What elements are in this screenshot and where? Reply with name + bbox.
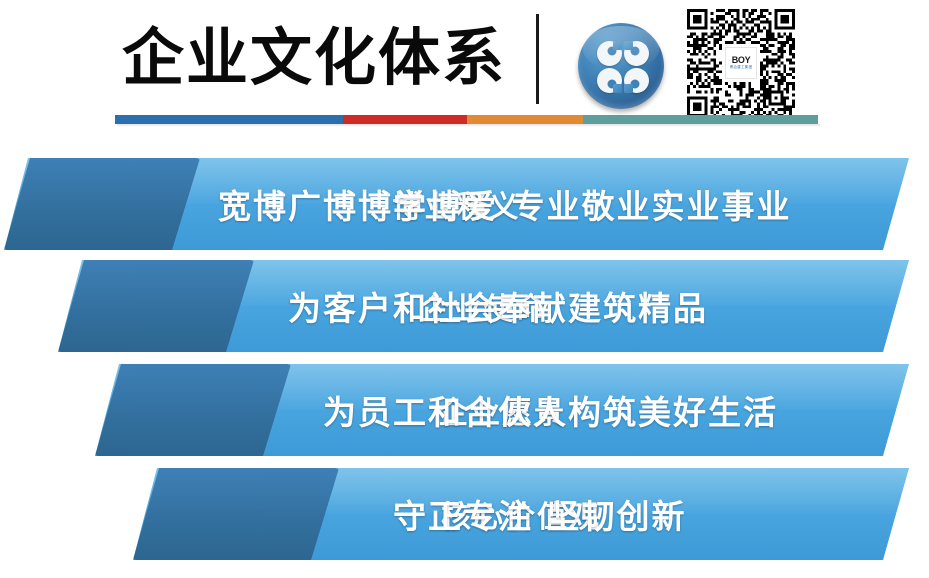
color-rule-segment-teal [583, 115, 818, 124]
logo-dot-4 [624, 68, 649, 93]
page-title: 企业文化体系 [122, 20, 506, 96]
banner-text: 为客户和社会奉献建筑精品 [288, 260, 708, 352]
company-circular-logo-icon [574, 19, 668, 113]
banner-text: 宽博广博博学博爱 专业敬业实业事业 [218, 158, 792, 250]
logo-dot-3 [597, 68, 622, 93]
qr-brand-sublabel: 博冶建工集团 [730, 66, 753, 69]
color-rule [115, 115, 818, 124]
banner-row[interactable]: 企业愿景 为员工和合伙人构筑美好生活 [95, 364, 909, 456]
banner-row[interactable]: 核心价值观 守正专注 坚韧创新 [133, 468, 909, 560]
vertical-divider-icon [536, 14, 539, 104]
slide-root: 企业文化体系 BOY 博冶建工集团 [0, 0, 929, 578]
logo-dot-2 [624, 41, 649, 66]
color-rule-shadow [117, 124, 820, 127]
qr-code-icon[interactable]: BOY 博冶建工集团 [687, 9, 795, 117]
banner-text: 为员工和合伙人构筑美好生活 [323, 364, 778, 456]
banner-row[interactable]: 企业使命 为客户和社会奉献建筑精品 [58, 260, 909, 352]
banner-text: 守正专注 坚韧创新 [393, 468, 687, 560]
banner-row[interactable]: 博业释义 宽博广博博学博爱 专业敬业实业事业 [4, 158, 909, 250]
logo-disc [578, 23, 664, 109]
header: 企业文化体系 BOY 博冶建工集团 [0, 0, 929, 140]
logo-dot-1 [597, 41, 622, 66]
qr-center-logo: BOY 博冶建工集团 [725, 47, 757, 79]
color-rule-segment-orange [467, 115, 583, 124]
qr-brand-label: BOY [732, 56, 751, 65]
color-rule-segment-red [343, 115, 467, 124]
color-rule-segment-blue [115, 115, 343, 124]
